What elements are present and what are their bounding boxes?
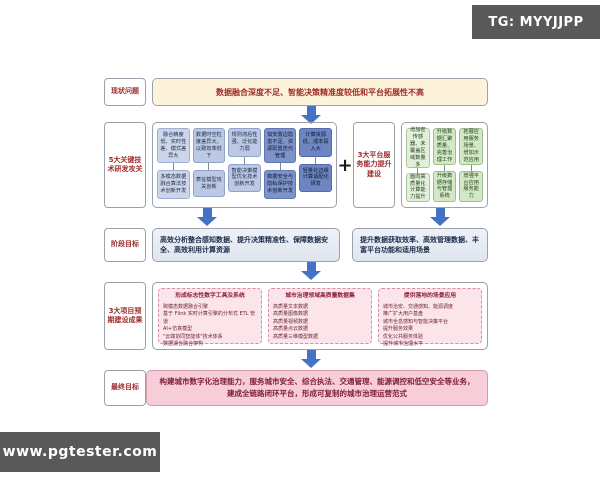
cell-connector [280,163,281,170]
outcome-item: 数据湖仓融合架构 [163,341,257,349]
arrow-head [301,271,321,280]
outcome-item: 基于 Flink 实时计算引擎的分布式 ETL 管道 [163,311,257,326]
arrow-head [301,359,321,368]
outcome-item: 高质量视频数据 [273,319,367,327]
outcome-item: 城市治安、交通感知、能源调度 [383,304,477,312]
arrow-shaft [436,208,445,217]
outcome-item: "云端协同智能体"技术体系 [163,334,257,342]
site-watermark: www.pgtester.com [0,432,160,472]
outcome-column-datasets: 城市治理领域高质量数据集 高质量文本数据 高质量图像数据 高质量视频数据 高质量… [268,288,372,344]
tech-solution-cell: 智能决策模型优化技术创新开发 [228,164,261,193]
tech-grid: 融合精度低、实时性差、模式差异大 多模态数据融合算法技术创新开发 数据时空粒度差… [152,122,337,208]
platform-column: 增加密传感器、未覆盖区域数量多 面向高质量化计算能力提升 [406,128,430,202]
outcome-item: 推广扩大用户基盘 [383,311,477,319]
platform-problem-cell: 增加密传感器、未覆盖区域数量多 [406,128,430,168]
platform-solution-cell: 面向高质量化计算能力提升 [406,173,430,202]
tech-problem-cell: 数据时空粒度差异大、以致效率低下 [193,128,226,163]
cell-connector [471,165,472,171]
tech-solution-cell: 轻量化边缘计算适配化研发 [299,164,332,193]
platform-column: 升级数据汇聚质量、完善治理工作 升级数据存储与管理系统 [433,128,457,202]
outcome-tag: 3大项目预期建设成果 [104,282,146,350]
tech-solution-cell: 数据安全与隐私保护技术创新开发 [264,170,297,199]
outcome-item: AI+仿真模型 [163,326,257,334]
outcome-column-tools: 形成标志性数字工具及系统 跨模态数据融合引擎 基于 Flink 实时计算引擎的分… [158,288,262,344]
telegram-watermark: TG: MYYJJPP [472,5,600,39]
arrow-shaft [307,106,316,115]
arrow-shaft [307,262,316,271]
outcome-item: 高质量点云数据 [273,326,367,334]
tech-row: 5大关键技术研发攻关 融合精度低、实时性差、模式差异大 多模态数据融合算法技术创… [104,122,488,208]
arrow-head [197,217,217,226]
tech-problem-cell: 规则滞后性强、泛化能力弱 [228,128,261,157]
arrow-platform-to-phase [430,208,450,226]
cell-connector [315,157,316,164]
outcome-panel: 形成标志性数字工具及系统 跨模态数据融合引擎 基于 Flink 实时计算引擎的分… [152,282,488,350]
tech-problem-cell: 融合精度低、实时性差、模式差异大 [157,128,190,163]
tech-problem-cell: 如安置边隐患不足、资源配置迭代管理 [264,128,297,163]
phase-goal-left: 高效分析整合感知数据、提升决策精准性、保障数据安全、高效利用计算资源 [152,228,340,262]
final-row: 最终目标 构建城市数字化治理能力，服务城市安全、综合执法、交通管理、能源调控和低… [104,370,488,406]
outcome-item: 提升城市治理水平 [383,341,477,349]
arrow-phase-to-outcome [301,262,321,280]
cell-connector [444,165,445,171]
cell-connector [244,157,245,164]
outcome-item: 高质量文本数据 [273,304,367,312]
tech-column: 融合精度低、实时性差、模式差异大 多模态数据融合算法技术创新开发 [157,128,190,202]
outcome-title: 提供落地的场景应用 [383,293,477,301]
arrow-head [430,217,450,226]
tech-problem-cell: 计算资源低、成本投入大 [299,128,332,157]
outcome-item: 提升服务效果 [383,326,477,334]
problem-statement: 数据融合深度不足、智能决策精准度较低和平台拓展性不高 [152,78,488,106]
final-goal: 构建城市数字化治理能力，服务城市安全、综合执法、交通管理、能源调控和低空安全等业… [146,370,488,406]
final-tag: 最终目标 [104,370,146,406]
tech-column: 计算资源低、成本投入大 轻量化边缘计算适配化研发 [299,128,332,202]
problem-tag: 现状问题 [104,78,146,106]
arrow-shaft [307,350,316,359]
outcome-item: 城市全息感知与智能决策平台 [383,319,477,327]
platform-solution-cell: 增强平台应用服务能力 [459,171,483,202]
outcome-item: 高质量图像数据 [273,311,367,319]
outcome-title: 形成标志性数字工具及系统 [163,293,257,301]
cell-connector [208,163,209,170]
tech-solution-cell: 表征模型攻关创新 [193,170,226,197]
problem-row: 现状问题 数据融合深度不足、智能决策精准度较低和平台拓展性不高 [104,78,488,106]
arrow-tech-to-phase [197,208,217,226]
outcome-item: 优化公共服务体验 [383,334,477,342]
platform-tag: 3大平台服务能力提升建设 [353,122,395,208]
phase-row: 阶段目标 高效分析整合感知数据、提升决策精准性、保障数据安全、高效利用计算资源 … [104,228,488,262]
platform-grid: 增加密传感器、未覆盖区域数量多 面向高质量化计算能力提升 升级数据汇聚质量、完善… [401,122,488,208]
roadmap-canvas: TG: MYYJJPP www.pgtester.com 现状问题 数据融合深度… [0,0,600,480]
cell-connector [173,163,174,170]
phase-tag: 阶段目标 [104,228,146,262]
outcome-title: 城市治理领域高质量数据集 [273,293,367,301]
tech-column: 规则滞后性强、泛化能力弱 智能决策模型优化技术创新开发 [228,128,261,202]
outcome-item: 跨模态数据融合引擎 [163,304,257,312]
platform-column: 拓展应用服务场景、增加示范应用 增强平台应用服务能力 [459,128,483,202]
outcome-column-applications: 提供落地的场景应用 城市治安、交通感知、能源调度 推广扩大用户基盘 城市全息感知… [378,288,482,344]
phase-goal-right: 提升数据获取效率、高效管理数据、丰富平台功能和适用场景 [352,228,488,262]
tech-tag: 5大关键技术研发攻关 [104,122,146,208]
arrow-outcome-to-final [301,350,321,368]
platform-solution-cell: 升级数据存储与管理系统 [433,171,457,202]
arrow-shaft [203,208,212,217]
plus-operator: + [337,122,353,208]
tech-column: 数据时空粒度差异大、以致效率低下 表征模型攻关创新 [193,128,226,202]
tech-column: 如安置边隐患不足、资源配置迭代管理 数据安全与隐私保护技术创新开发 [264,128,297,202]
outcome-row: 3大项目预期建设成果 形成标志性数字工具及系统 跨模态数据融合引擎 基于 Fli… [104,282,488,350]
platform-problem-cell: 拓展应用服务场景、增加示范应用 [459,128,483,165]
outcome-item: 高质量三维模型数据 [273,334,367,342]
tech-solution-cell: 多模态数据融合算法技术创新开发 [157,170,190,199]
platform-problem-cell: 升级数据汇聚质量、完善治理工作 [433,128,457,165]
